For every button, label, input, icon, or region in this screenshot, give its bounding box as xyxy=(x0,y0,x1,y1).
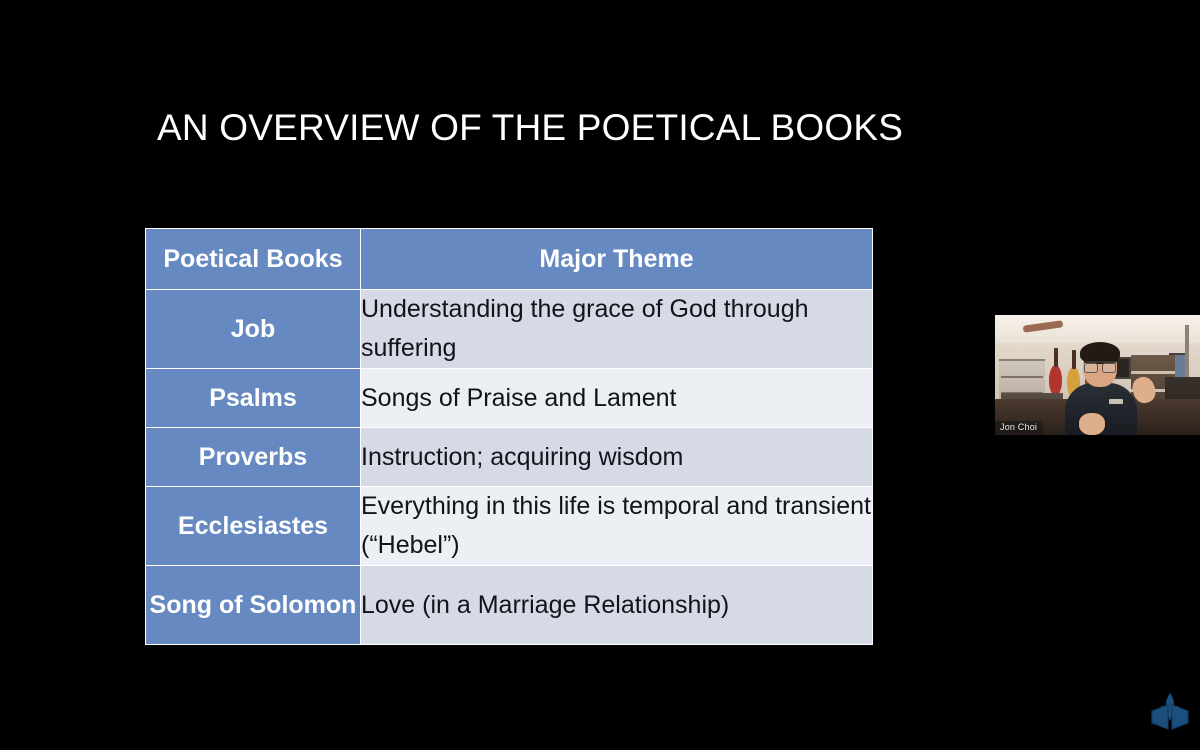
cell-book-job: Job xyxy=(146,290,361,369)
poetical-books-table-wrapper: Poetical Books Major Theme Job Understan… xyxy=(145,228,872,645)
presentation-slide: AN OVERVIEW OF THE POETICAL BOOKS Poetic… xyxy=(0,0,1200,750)
open-book-logo-icon xyxy=(1148,691,1192,735)
glasses-icon xyxy=(1084,361,1116,372)
cell-theme-proverbs: Instruction; acquiring wisdom xyxy=(361,428,873,487)
cell-theme-song-of-solomon: Love (in a Marriage Relationship) xyxy=(361,566,873,645)
cell-theme-job: Understanding the grace of God through s… xyxy=(361,290,873,369)
table-row: Psalms Songs of Praise and Lament xyxy=(146,369,873,428)
participant-name-label: Jon Choi xyxy=(995,421,1043,434)
cell-book-ecclesiastes: Ecclesiastes xyxy=(146,487,361,566)
table-row: Job Understanding the grace of God throu… xyxy=(146,290,873,369)
mic-stand-pole xyxy=(1185,325,1189,381)
cell-theme-ecclesiastes: Everything in this life is temporal and … xyxy=(361,487,873,566)
shirt-logo xyxy=(1109,399,1123,404)
webcam-speaker xyxy=(1059,341,1145,435)
lower-hand xyxy=(1079,413,1105,435)
column-header-major-theme: Major Theme xyxy=(361,229,873,290)
table-row: Song of Solomon Love (in a Marriage Rela… xyxy=(146,566,873,645)
table-row: Proverbs Instruction; acquiring wisdom xyxy=(146,428,873,487)
page-title: AN OVERVIEW OF THE POETICAL BOOKS xyxy=(157,106,917,150)
poetical-books-table: Poetical Books Major Theme Job Understan… xyxy=(145,228,873,645)
column-header-poetical-books: Poetical Books xyxy=(146,229,361,290)
cell-book-proverbs: Proverbs xyxy=(146,428,361,487)
webcam-room-background xyxy=(995,315,1200,435)
cell-theme-psalms: Songs of Praise and Lament xyxy=(361,369,873,428)
table-header-row: Poetical Books Major Theme xyxy=(146,229,873,290)
table-row: Ecclesiastes Everything in this life is … xyxy=(146,487,873,566)
webcam-video-tile[interactable]: Jon Choi xyxy=(995,315,1200,435)
cell-book-psalms: Psalms xyxy=(146,369,361,428)
cell-book-song-of-solomon: Song of Solomon xyxy=(146,566,361,645)
